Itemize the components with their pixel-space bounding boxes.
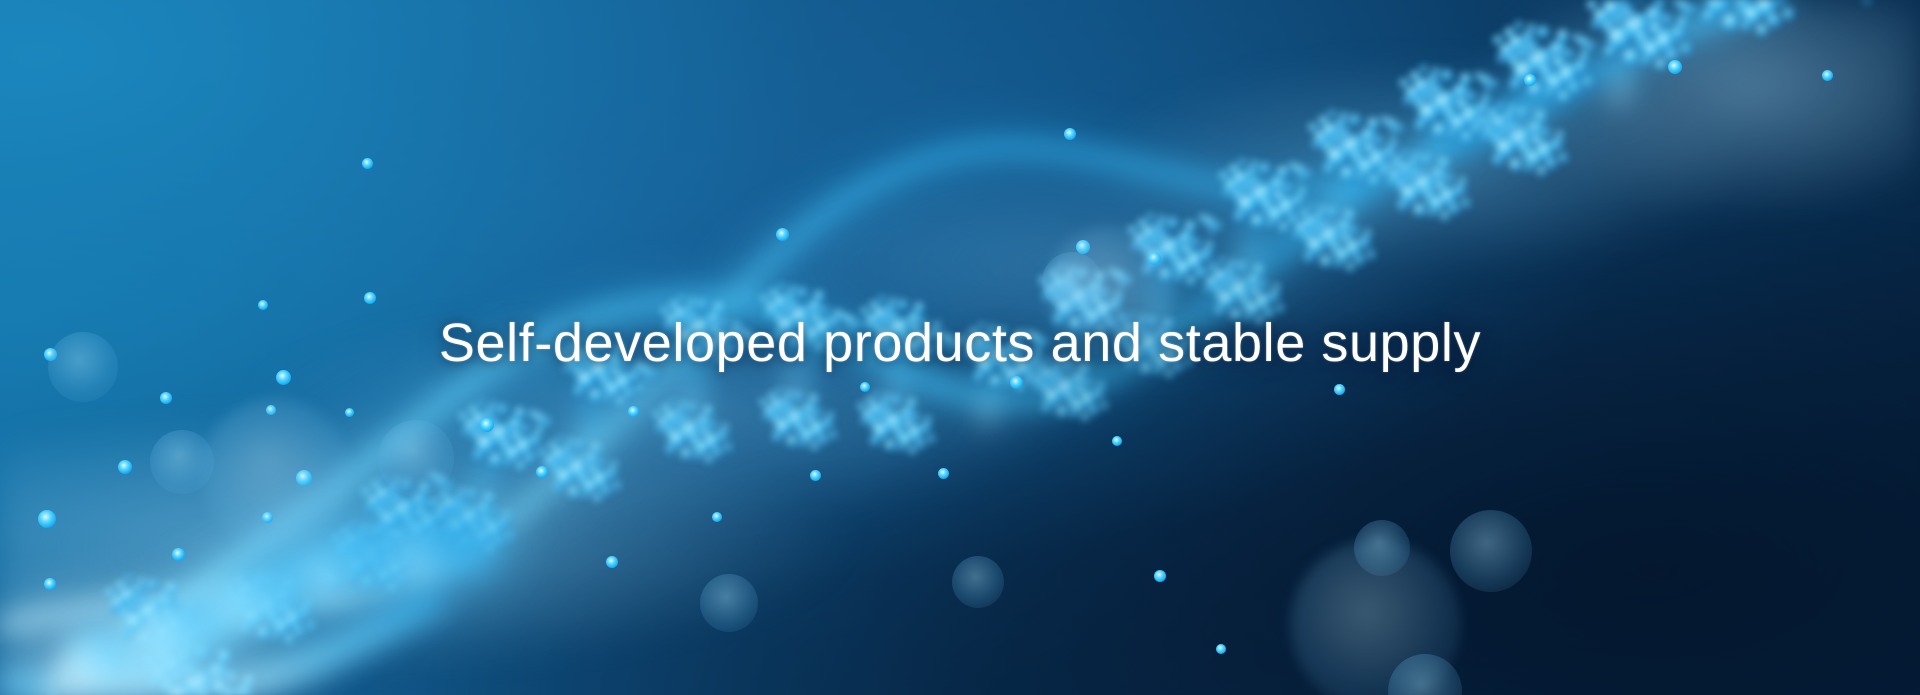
banner-headline: Self-developed products and stable suppl… xyxy=(439,312,1481,374)
headline-container: Self-developed products and stable suppl… xyxy=(0,0,1920,695)
hero-banner: Self-developed products and stable suppl… xyxy=(0,0,1920,695)
